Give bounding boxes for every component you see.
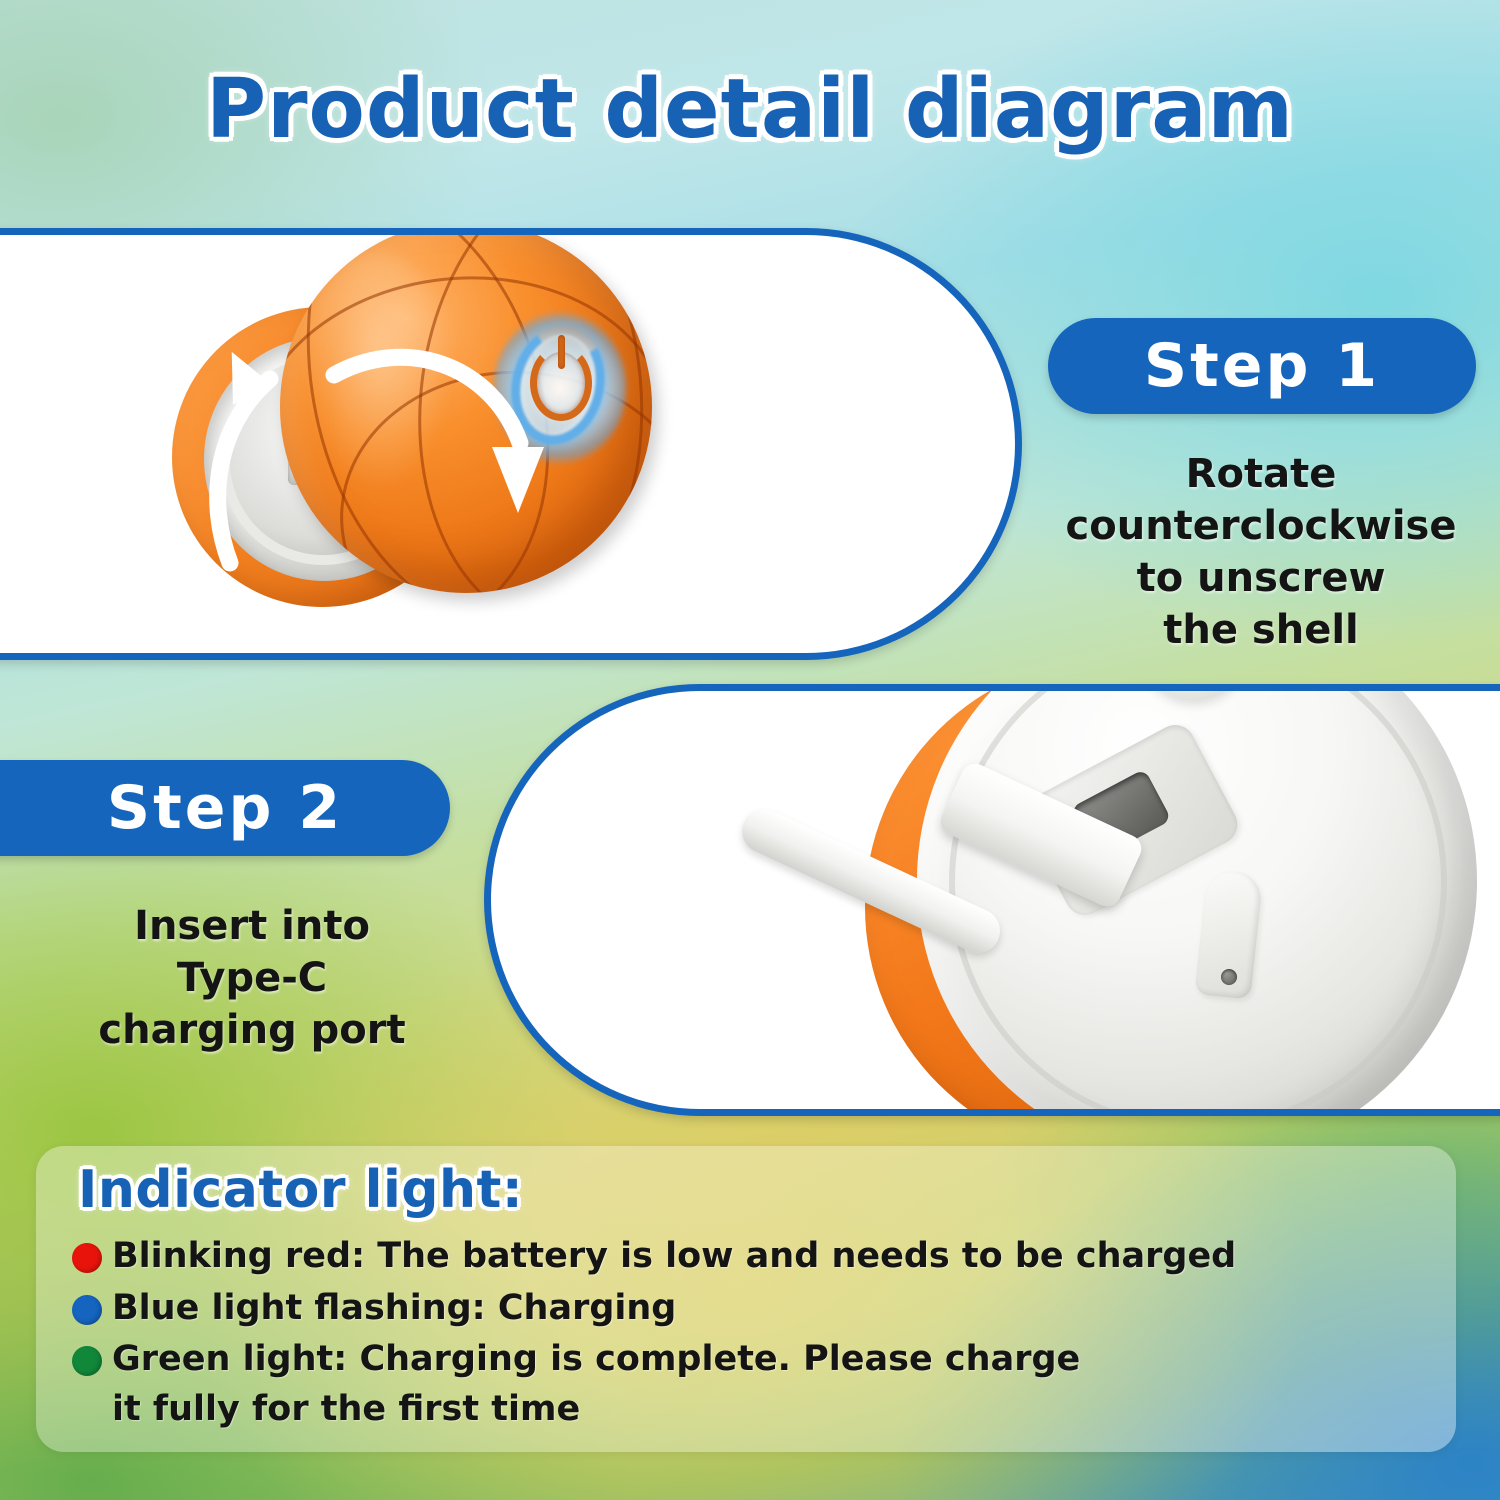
indicator-light-title: Indicator light: bbox=[78, 1160, 523, 1220]
product-detail-infographic: Product detail diagram bbox=[0, 0, 1500, 1500]
rotation-arrows-icon bbox=[120, 228, 760, 660]
led-indicator-dot-icon bbox=[1221, 969, 1237, 985]
indicator-light-card: Indicator light: Blinking red: The batte… bbox=[36, 1146, 1456, 1452]
step-2-caption-text: Insert into Type-C charging port bbox=[98, 903, 405, 1053]
indicator-item-text: Green light: Charging is complete. Pleas… bbox=[112, 1335, 1080, 1434]
green-indicator-dot bbox=[72, 1346, 102, 1376]
step-2-badge: Step 2 bbox=[0, 760, 450, 856]
list-item: Green light: Charging is complete. Pleas… bbox=[72, 1335, 1432, 1434]
step-1-badge: Step 1 bbox=[1048, 318, 1476, 414]
red-indicator-dot bbox=[72, 1243, 102, 1273]
list-item: Blue light flashing: Charging bbox=[72, 1284, 1432, 1334]
indicator-item-text: Blue light flashing: Charging bbox=[112, 1284, 676, 1334]
step-1-badge-label: Step 1 bbox=[1144, 331, 1380, 401]
step-2-image-panel bbox=[484, 684, 1500, 1116]
step-2-badge-label: Step 2 bbox=[107, 773, 343, 843]
step-1-caption-text: Rotate counterclockwise to unscrew the s… bbox=[1066, 451, 1457, 653]
indicator-light-list: Blinking red: The battery is low and nee… bbox=[72, 1232, 1432, 1437]
ball-unscrew-illustration bbox=[120, 228, 760, 660]
page-title: Product detail diagram bbox=[206, 62, 1294, 157]
usb-charging-illustration bbox=[821, 684, 1500, 1116]
step-1-caption: Rotate counterclockwise to unscrew the s… bbox=[1040, 448, 1482, 656]
step-1-image-panel bbox=[0, 228, 1022, 660]
step-2-caption: Insert into Type-C charging port bbox=[52, 900, 452, 1056]
blue-indicator-dot bbox=[72, 1295, 102, 1325]
list-item: Blinking red: The battery is low and nee… bbox=[72, 1232, 1432, 1282]
indicator-item-text: Blinking red: The battery is low and nee… bbox=[112, 1232, 1236, 1282]
page-title-wrapper: Product detail diagram bbox=[0, 62, 1500, 157]
